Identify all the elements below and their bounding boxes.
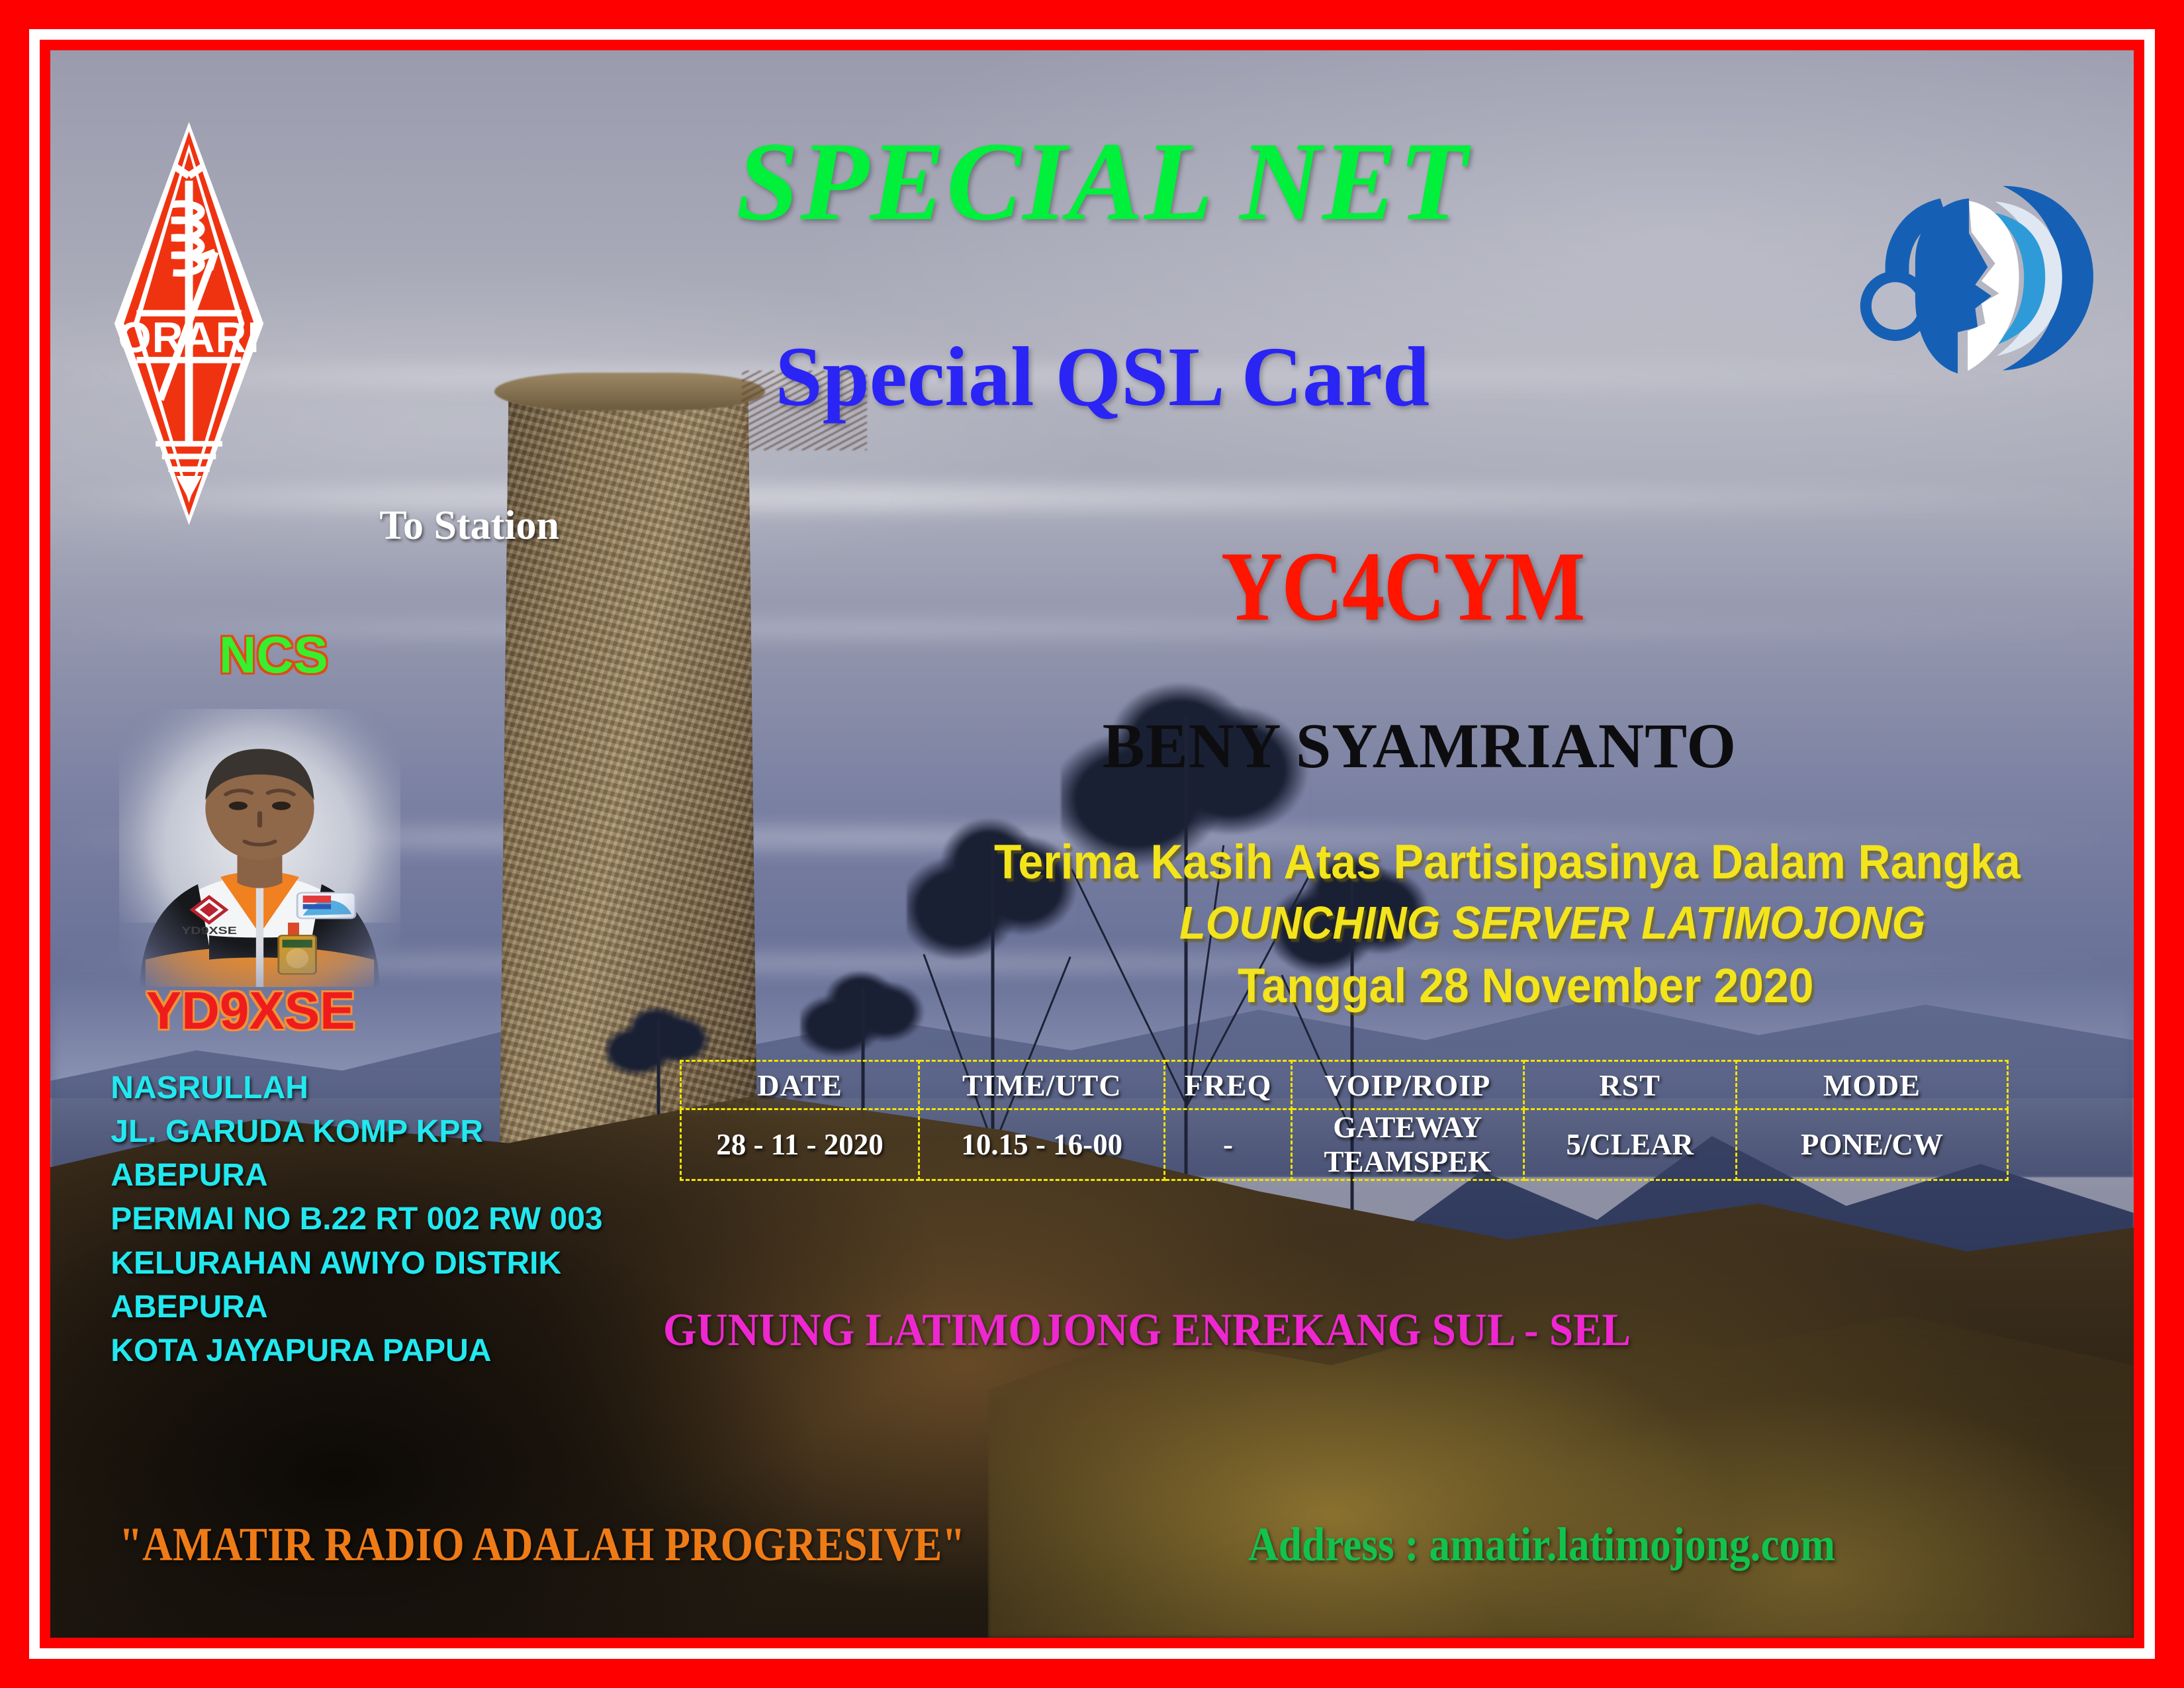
- column-header-voip: VOIP/ROIP: [1291, 1061, 1524, 1109]
- event-line: LOUNCHING SERVER LATIMOJONG: [1179, 896, 1925, 949]
- column-header-mode: MODE: [1736, 1061, 2007, 1109]
- orari-diamond-logo: ORARI: [90, 117, 288, 530]
- location-line: GUNUNG LATIMOJONG ENREKANG SUL - SEL: [663, 1304, 1631, 1357]
- address-line: PERMAI NO B.22 RT 002 RW 003: [111, 1197, 602, 1241]
- card-background-photo: ORARI SPECIAL NET Special QSL Card To St…: [50, 50, 2134, 1638]
- cell-date: 28 - 11 - 2020: [680, 1109, 919, 1180]
- ncs-operator-photo: YD9XSE: [119, 709, 400, 987]
- cell-mode: PONE/CW: [1736, 1109, 2007, 1180]
- ncs-callsign: YD9XSE: [146, 980, 355, 1041]
- slogan-text: "AMATIR RADIO ADALAH PROGRESIVE": [119, 1517, 965, 1572]
- address-line: ABEPURA: [111, 1286, 602, 1329]
- event-date-line: Tanggal 28 November 2020: [1238, 959, 1813, 1013]
- column-header-freq: FREQ: [1165, 1061, 1292, 1109]
- address-line: ABEPURA: [111, 1154, 602, 1197]
- cell-voip: GATEWAY TEAMSPEK: [1291, 1109, 1524, 1180]
- thanks-line: Terima Kasih Atas Partisipasinya Dalam R…: [994, 835, 2021, 890]
- cell-freq: -: [1165, 1109, 1292, 1180]
- operator-name: BENY SYAMRIANTO: [1103, 709, 1737, 782]
- headphone-profile-logo: [1846, 122, 2097, 432]
- cloud-band: [50, 487, 2134, 509]
- ncs-role-label: NCS: [219, 625, 328, 685]
- mailing-address: NASRULLAH JL. GARUDA KOMP KPR ABEPURA PE…: [111, 1066, 602, 1374]
- column-header-time: TIME/UTC: [919, 1061, 1165, 1109]
- page-subtitle: Special QSL Card: [775, 328, 1430, 426]
- station-callsign: YC4CYM: [1221, 530, 1584, 643]
- cell-voip-line1: GATEWAY: [1293, 1110, 1523, 1145]
- cloud-band: [50, 622, 2134, 636]
- svg-text:YD9XSE: YD9XSE: [181, 925, 237, 937]
- table-header-row: DATE TIME/UTC FREQ VOIP/ROIP RST MODE: [680, 1061, 2007, 1109]
- cairn-cap: [494, 373, 765, 411]
- column-header-rst: RST: [1524, 1061, 1736, 1109]
- cell-rst: 5/CLEAR: [1524, 1109, 1736, 1180]
- cell-voip-line2: TEAMSPEK: [1293, 1145, 1523, 1179]
- address-line: NASRULLAH: [111, 1066, 602, 1110]
- page-title: SPECIAL NET: [736, 117, 1469, 246]
- cell-time: 10.15 - 16-00: [919, 1109, 1165, 1180]
- address-line: JL. GARUDA KOMP KPR: [111, 1110, 602, 1154]
- table-row: 28 - 11 - 2020 10.15 - 16-00 - GATEWAY T…: [680, 1109, 2007, 1180]
- qso-log-table: DATE TIME/UTC FREQ VOIP/ROIP RST MODE 28…: [680, 1060, 2009, 1181]
- web-address-text: Address : amatir.latimojong.com: [1248, 1517, 1835, 1572]
- address-line: KELURAHAN AWIYO DISTRIK: [111, 1242, 602, 1286]
- qsl-card: ORARI SPECIAL NET Special QSL Card To St…: [0, 0, 2184, 1688]
- svg-text:ORARI: ORARI: [118, 313, 260, 361]
- to-station-label: To Station: [379, 502, 559, 549]
- column-header-date: DATE: [680, 1061, 919, 1109]
- address-line: KOTA JAYAPURA PAPUA: [111, 1329, 602, 1373]
